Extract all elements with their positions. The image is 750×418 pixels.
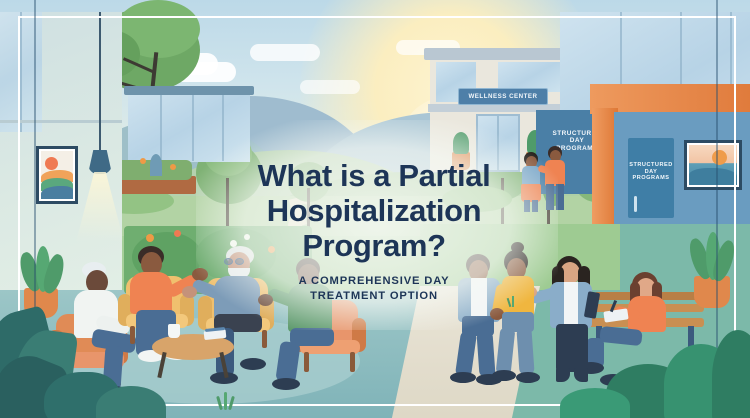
artwork-sun [712, 150, 727, 165]
door-handle [634, 196, 637, 212]
wall-trim [0, 120, 122, 123]
cloud [300, 80, 360, 94]
subtitle-line-1: A COMPREHENSIVE DAY [224, 274, 524, 289]
grass-tuft [512, 296, 514, 307]
coffee-mug [168, 324, 180, 338]
sign-line: PROGRAMS [633, 175, 670, 181]
artwork-hill [689, 168, 737, 185]
potted-plant-pot [694, 276, 730, 308]
garden-shrub [150, 154, 162, 176]
foreground-bush [560, 388, 630, 418]
structured-day-programs-sign-right: STRUCTURED DAY PROGRAMS [628, 152, 674, 192]
poster-title-block: What is a Partial Hospitalization Progra… [224, 158, 524, 304]
building-roof [124, 86, 254, 95]
garden-flower [140, 158, 146, 164]
poster-canvas: WELLNESS CENTER STRUCTURED DAY PROGRAMS … [0, 0, 750, 418]
garden-flower [170, 164, 176, 170]
artwork-sun [45, 157, 58, 170]
artwork-hill [41, 186, 73, 199]
title-line-2: Hospitalization [224, 193, 524, 228]
grass-tuft [224, 392, 227, 410]
mural-flower [146, 234, 154, 242]
building-roof [424, 48, 576, 60]
cloud [250, 44, 320, 61]
wellness-center-sign: WELLNESS CENTER [458, 88, 548, 105]
subtitle-line-2: TREATMENT OPTION [224, 289, 524, 304]
wellness-center-sign-label: WELLNESS CENTER [468, 93, 537, 100]
pendant-cord [99, 12, 101, 152]
mural-flower [174, 230, 181, 237]
title-line-1: What is a Partial [224, 158, 524, 193]
title-line-3: Program? [224, 228, 524, 263]
sign-line: DAY [570, 137, 584, 144]
illustration-scene: WELLNESS CENTER STRUCTURED DAY PROGRAMS … [0, 0, 750, 418]
